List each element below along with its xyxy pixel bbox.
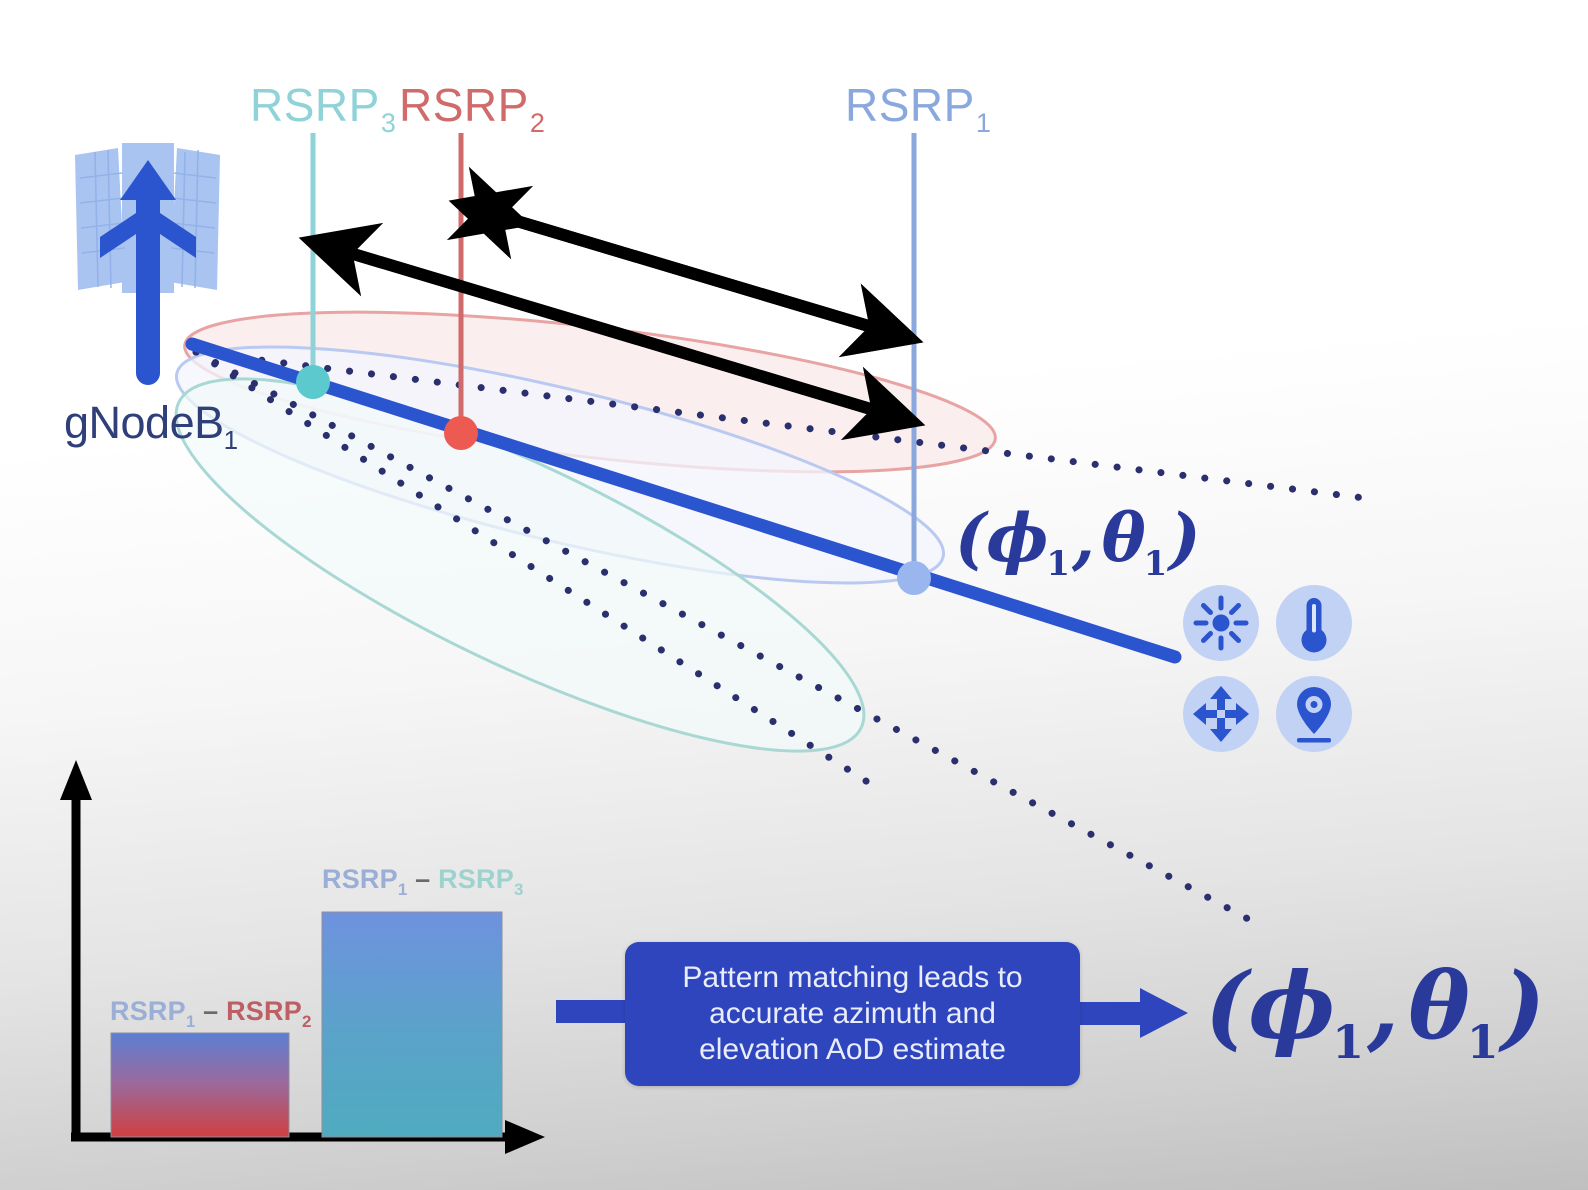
- gnodeb-label: gNodeB1: [64, 400, 238, 445]
- pattern-matching-text: Pattern matching leads toaccurate azimut…: [666, 960, 1038, 1067]
- aod-angle-result: (ϕ1, θ1): [1205, 960, 1545, 1052]
- rsrp1-marker: [897, 561, 931, 595]
- pattern-matching-box: Pattern matching leads toaccurate azimut…: [625, 942, 1080, 1086]
- bar-caption-rsrp1-rsrp3: RSRP1 – RSRP3: [322, 864, 524, 895]
- rsrp3-label: RSRP3: [250, 82, 395, 128]
- location-pin-icon[interactable]: [1276, 676, 1352, 752]
- box-to-angle-arrow: [1078, 988, 1188, 1038]
- chart-x-axis-arrowhead: [505, 1120, 545, 1154]
- brightness-icon[interactable]: [1183, 585, 1259, 661]
- diagram-canvas: RSRP3 RSRP2 RSRP1 gNodeB1 (ϕ1, θ1) (ϕ1, …: [0, 0, 1588, 1190]
- rsrp2-label: RSRP2: [399, 82, 544, 128]
- thermometer-icon[interactable]: [1276, 585, 1352, 661]
- move-icon[interactable]: [1183, 676, 1259, 752]
- rsrp-difference-bar-chart: [60, 760, 545, 1154]
- rsrp3-marker: [296, 365, 330, 399]
- bar-chart-to-box-connector: [556, 1000, 636, 1023]
- chart-y-axis-arrowhead: [60, 760, 92, 800]
- bar-rsrp1-minus-rsrp3: [322, 912, 502, 1137]
- rsrp2-marker: [444, 416, 478, 450]
- bar-rsrp1-minus-rsrp2: [111, 1033, 289, 1137]
- rsrp1-label: RSRP1: [845, 82, 990, 128]
- bar-caption-rsrp1-rsrp2: RSRP1 – RSRP2: [110, 996, 312, 1027]
- aod-angle-label-diagram: (ϕ1, θ1): [955, 505, 1201, 571]
